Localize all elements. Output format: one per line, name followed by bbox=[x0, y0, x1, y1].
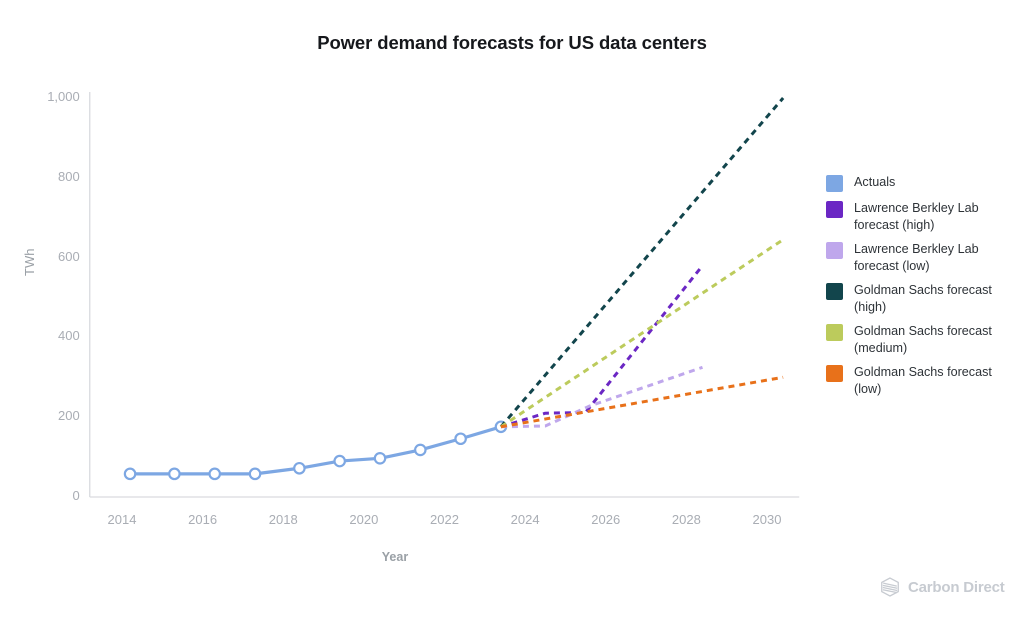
legend-item-label: Goldman Sachs forecast (low) bbox=[854, 364, 1021, 397]
series-marker bbox=[250, 469, 260, 479]
legend-swatch-icon bbox=[826, 201, 843, 218]
legend-swatch-icon bbox=[826, 283, 843, 300]
legend-item[interactable]: Goldman Sachs forecast (medium) bbox=[826, 323, 1021, 356]
x-tick-label: 2024 bbox=[490, 512, 560, 527]
series-marker bbox=[294, 463, 304, 473]
axes-layer bbox=[90, 92, 800, 497]
legend-item[interactable]: Lawrence Berkley Lab forecast (low) bbox=[826, 241, 1021, 274]
y-tick-label: 800 bbox=[20, 169, 80, 184]
y-tick-label: 400 bbox=[20, 328, 80, 343]
series-line bbox=[501, 266, 703, 427]
legend-item-label: Lawrence Berkley Lab forecast (low) bbox=[854, 241, 1021, 274]
legend-item-label: Lawrence Berkley Lab forecast (high) bbox=[854, 200, 1021, 233]
series-marker bbox=[210, 469, 220, 479]
series-marker bbox=[169, 469, 179, 479]
series-line bbox=[130, 427, 501, 474]
legend-swatch-icon bbox=[826, 324, 843, 341]
y-tick-label: 0 bbox=[20, 488, 80, 503]
x-axis-title: Year bbox=[0, 550, 790, 564]
legend-item-label: Actuals bbox=[854, 174, 895, 191]
legend-item[interactable]: Goldman Sachs forecast (high) bbox=[826, 282, 1021, 315]
legend-item-label: Goldman Sachs forecast (medium) bbox=[854, 323, 1021, 356]
stacked-hexagon-logo-icon bbox=[879, 576, 901, 598]
legend-swatch-icon bbox=[826, 175, 843, 192]
x-tick-label: 2014 bbox=[87, 512, 157, 527]
chart-legend: ActualsLawrence Berkley Lab forecast (hi… bbox=[826, 174, 1021, 405]
series-line bbox=[501, 367, 703, 426]
x-tick-label: 2016 bbox=[168, 512, 238, 527]
y-tick-label: 600 bbox=[20, 249, 80, 264]
legend-item-label: Goldman Sachs forecast (high) bbox=[854, 282, 1021, 315]
y-tick-label: 200 bbox=[20, 408, 80, 423]
legend-item[interactable]: Lawrence Berkley Lab forecast (high) bbox=[826, 200, 1021, 233]
x-tick-label: 2030 bbox=[732, 512, 802, 527]
series-line bbox=[501, 377, 783, 426]
x-tick-label: 2026 bbox=[571, 512, 641, 527]
x-tick-label: 2018 bbox=[248, 512, 318, 527]
series-marker bbox=[125, 469, 135, 479]
legend-swatch-icon bbox=[826, 365, 843, 382]
x-tick-label: 2028 bbox=[651, 512, 721, 527]
brand-name: Carbon Direct bbox=[908, 579, 1005, 596]
chart-container: Power demand forecasts for US data cente… bbox=[0, 0, 1024, 619]
legend-item[interactable]: Goldman Sachs forecast (low) bbox=[826, 364, 1021, 397]
legend-swatch-icon bbox=[826, 242, 843, 259]
series-marker bbox=[375, 453, 385, 463]
y-tick-label: 1,000 bbox=[20, 89, 80, 104]
x-tick-label: 2020 bbox=[329, 512, 399, 527]
series-line bbox=[501, 98, 783, 427]
brand-watermark: Carbon Direct bbox=[879, 576, 1005, 598]
series-marker bbox=[415, 445, 425, 455]
series-marker bbox=[455, 434, 465, 444]
series-line bbox=[501, 240, 783, 427]
legend-item[interactable]: Actuals bbox=[826, 174, 1021, 192]
series-marker bbox=[334, 456, 344, 466]
series-layer bbox=[125, 98, 783, 479]
x-tick-label: 2022 bbox=[410, 512, 480, 527]
